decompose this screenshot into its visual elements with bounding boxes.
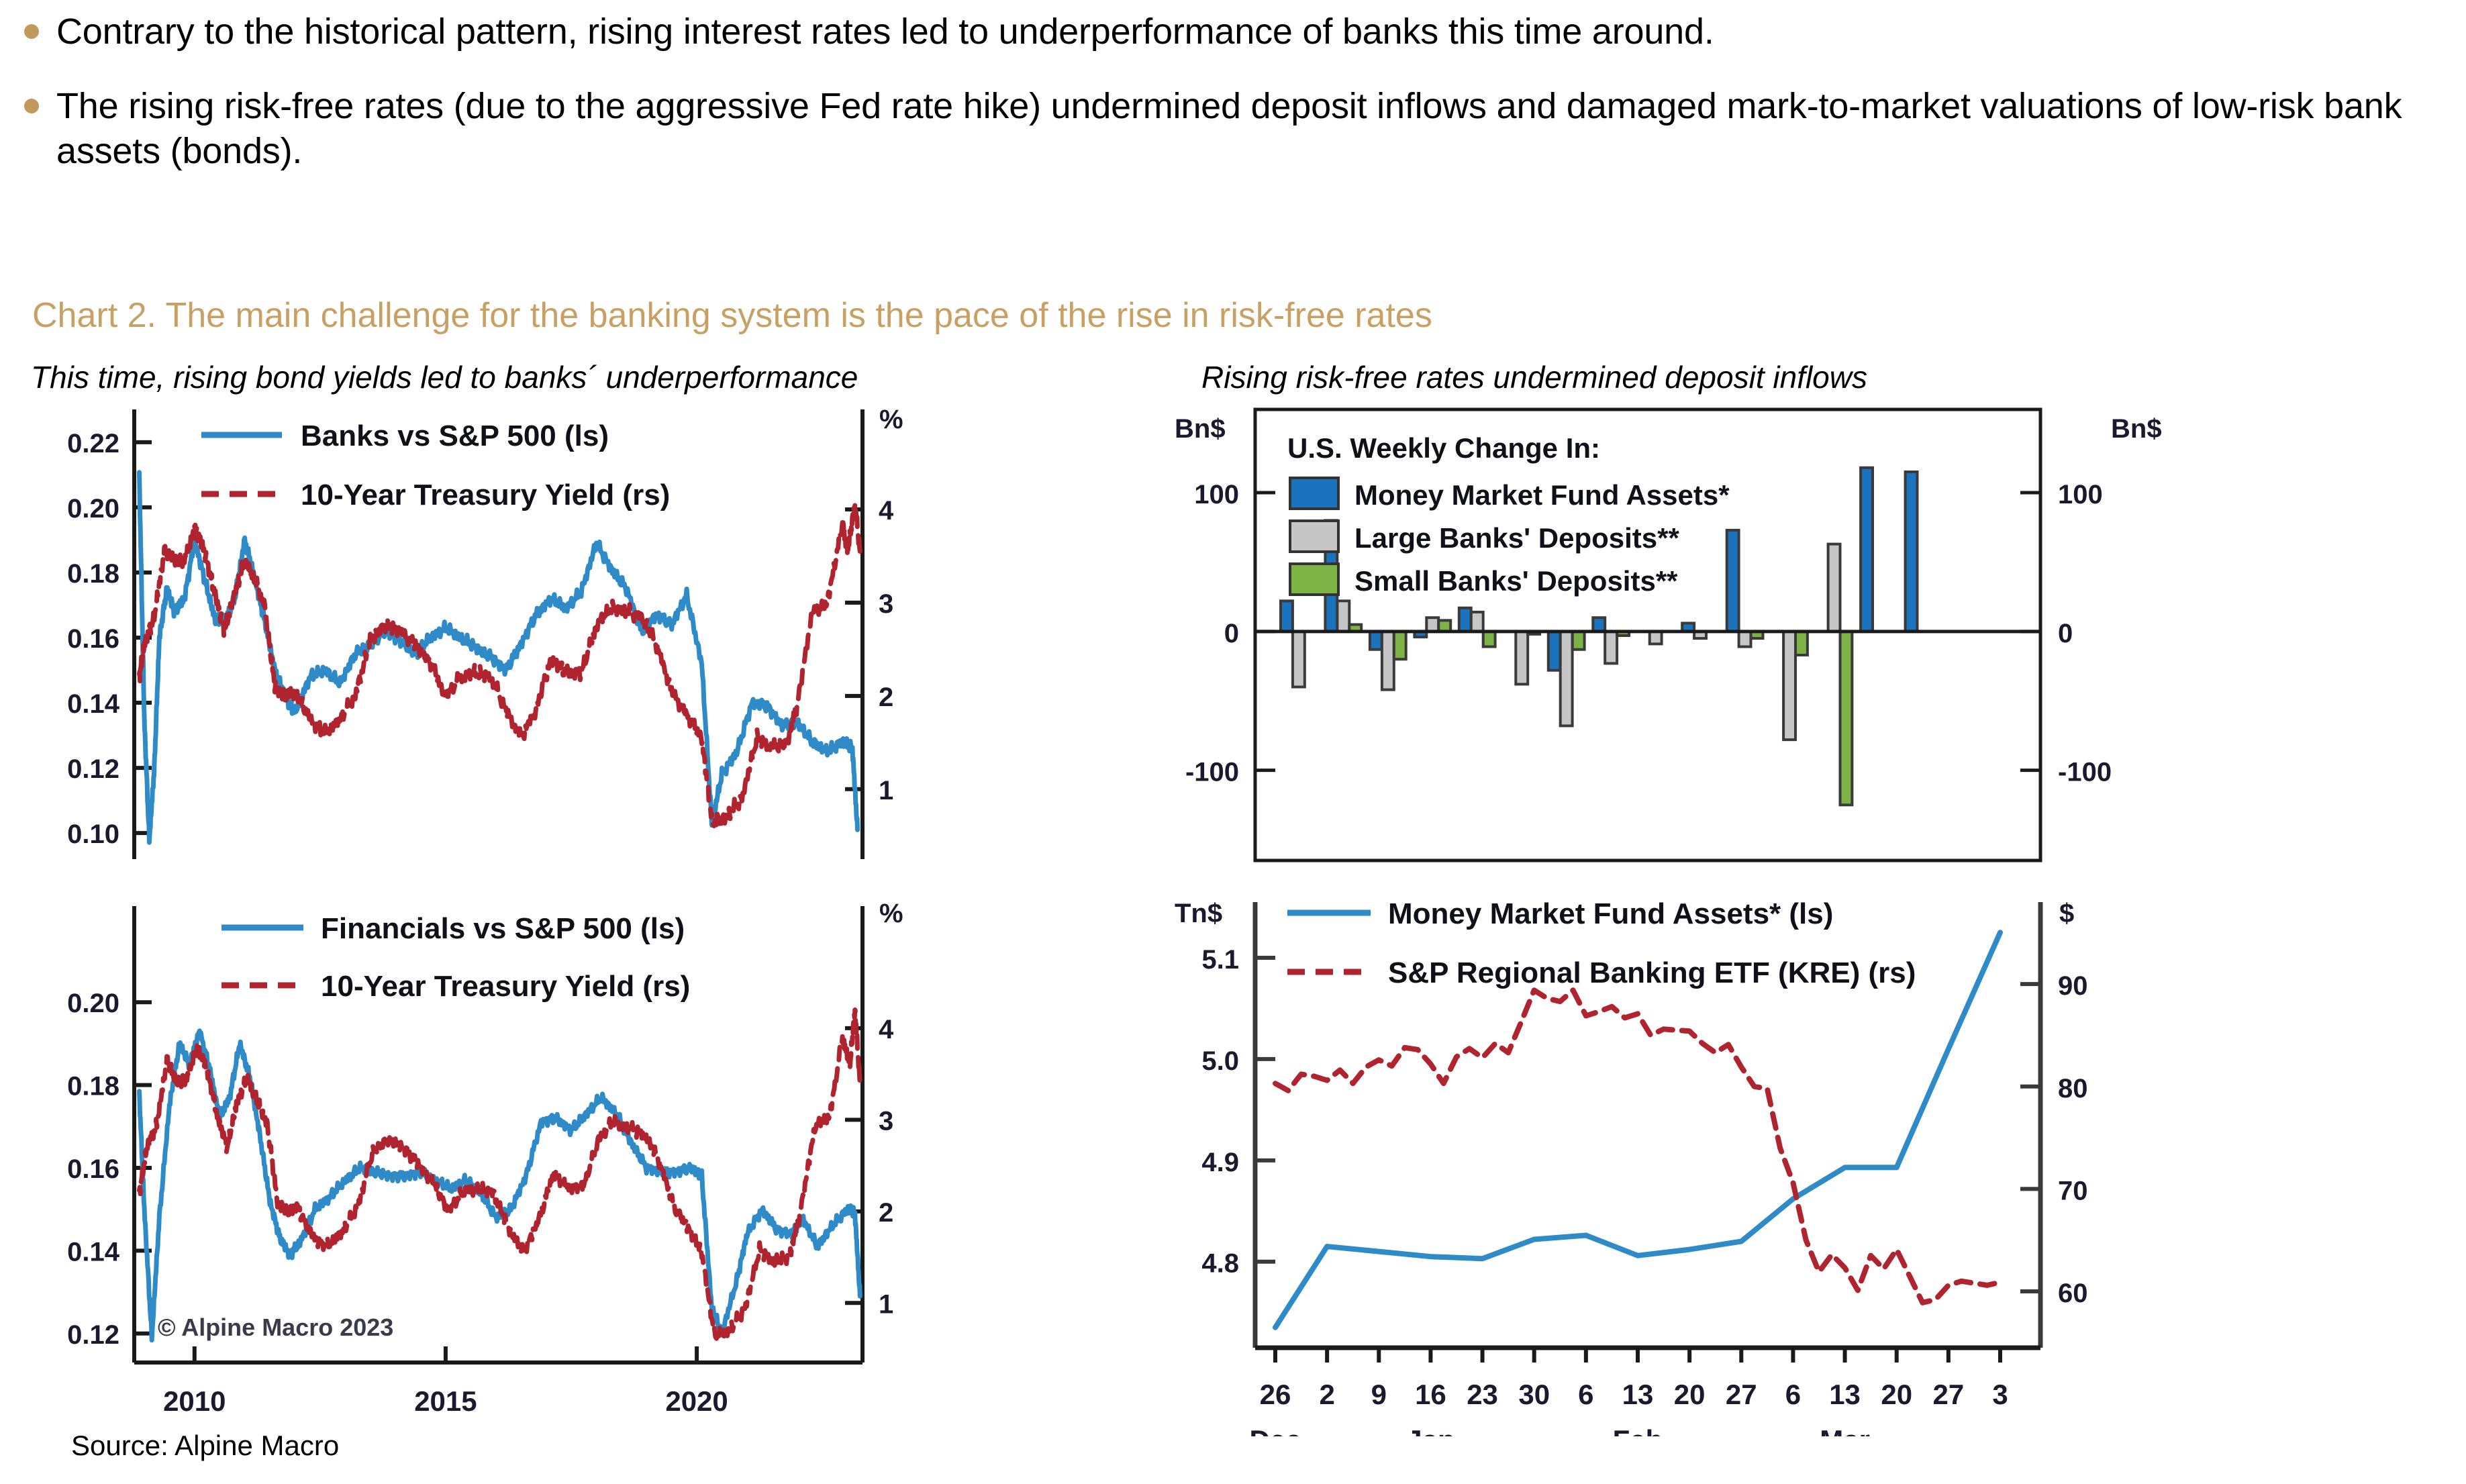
chart-legend: U.S. Weekly Change In: Money Market Fund… <box>1287 432 1730 597</box>
bar <box>1727 530 1739 632</box>
bar <box>1426 617 1438 632</box>
series-path-1 <box>140 1010 860 1339</box>
bar <box>1394 632 1406 659</box>
bar <box>1593 617 1605 632</box>
list-item: The rising risk-free rates (due to the a… <box>0 84 2457 174</box>
axis-ticks-right: 60708090 <box>2020 971 2088 1308</box>
svg-text:6: 6 <box>1578 1379 1593 1410</box>
svg-text:2: 2 <box>879 683 893 712</box>
svg-text:5.0: 5.0 <box>1201 1046 1239 1076</box>
legend-title: U.S. Weekly Change In: <box>1287 432 1600 464</box>
svg-text:26: 26 <box>1260 1379 1291 1410</box>
chart-financials-vs-sp500: 0.120.140.160.180.20 1234 201020152020 F… <box>0 893 940 1430</box>
svg-text:100: 100 <box>2058 480 2103 509</box>
svg-text:13: 13 <box>1829 1379 1861 1410</box>
bar <box>1548 632 1561 671</box>
bullet-text: The rising risk-free rates (due to the a… <box>56 84 2457 174</box>
legend-label: Small Banks' Deposits** <box>1354 565 1678 597</box>
axis-ticks-right: -1000100 <box>2020 480 2112 787</box>
svg-text:0: 0 <box>2058 619 2073 648</box>
svg-text:3: 3 <box>879 589 893 619</box>
svg-text:-100: -100 <box>1185 758 1239 787</box>
chart-us-weekly-change: -1000100 -1000100 Bn$ Bn$ U.S. Weekly Ch… <box>1175 396 2222 879</box>
bar <box>1605 632 1617 664</box>
svg-text:0.20: 0.20 <box>67 989 119 1018</box>
subtitle-right: Rising risk-free rates undermined deposi… <box>1201 359 1867 395</box>
bar <box>1861 468 1873 632</box>
bullet-dot-icon <box>24 99 39 113</box>
slide-page: Contrary to the historical pattern, risi… <box>0 0 2466 1484</box>
svg-text:0.12: 0.12 <box>67 754 119 784</box>
legend-label: Money Market Fund Assets* (ls) <box>1388 897 1833 930</box>
bar <box>1471 612 1483 632</box>
svg-text:4: 4 <box>879 496 894 526</box>
svg-text:Dec: Dec <box>1249 1424 1301 1436</box>
svg-text:0.18: 0.18 <box>67 559 119 589</box>
svg-text:5.1: 5.1 <box>1201 945 1239 975</box>
chart-legend: Banks vs S&P 500 (ls) 10-Year Treasury Y… <box>201 419 670 511</box>
bars-group <box>1281 468 1918 805</box>
bar <box>1828 544 1840 632</box>
legend-label: 10-Year Treasury Yield (rs) <box>301 479 670 511</box>
chart-legend: Money Market Fund Assets* (ls) S&P Regio… <box>1287 897 1916 989</box>
svg-text:0.14: 0.14 <box>67 1237 120 1267</box>
svg-text:0.20: 0.20 <box>67 494 119 524</box>
svg-text:4.8: 4.8 <box>1201 1249 1239 1279</box>
left-axis-unit: Tn$ <box>1175 899 1222 928</box>
svg-text:20: 20 <box>1674 1379 1706 1410</box>
svg-text:0.14: 0.14 <box>67 689 120 719</box>
svg-text:90: 90 <box>2058 971 2088 1001</box>
svg-text:1: 1 <box>879 776 893 805</box>
svg-text:2020: 2020 <box>665 1385 728 1417</box>
svg-text:23: 23 <box>1467 1379 1498 1410</box>
svg-text:2: 2 <box>879 1198 893 1228</box>
svg-text:2015: 2015 <box>414 1385 477 1417</box>
bar <box>1783 632 1795 740</box>
bullet-list: Contrary to the historical pattern, risi… <box>0 9 2457 203</box>
bar <box>1739 632 1751 647</box>
bar <box>1906 472 1918 632</box>
svg-text:60: 60 <box>2058 1279 2088 1308</box>
source-note: Source: Alpine Macro <box>71 1430 339 1462</box>
legend-label: Financials vs S&P 500 (ls) <box>321 912 685 945</box>
legend-label: Large Banks' Deposits** <box>1354 522 1679 554</box>
bar <box>1370 632 1382 650</box>
bar <box>1483 632 1495 647</box>
svg-text:0: 0 <box>1224 619 1239 648</box>
legend-swatch-large-banks <box>1290 521 1338 552</box>
svg-text:1: 1 <box>879 1289 893 1319</box>
svg-text:4.9: 4.9 <box>1201 1148 1239 1177</box>
right-axis-unit: $ <box>2059 899 2074 928</box>
series-path-0 <box>140 473 858 842</box>
svg-text:100: 100 <box>1194 480 1239 509</box>
legend-label: S&P Regional Banking ETF (KRE) (rs) <box>1388 956 1916 989</box>
chart-banks-vs-sp500: 0.100.120.140.160.180.200.22 1234 Banks … <box>0 396 940 879</box>
bar <box>1459 608 1471 632</box>
bar <box>1650 632 1662 644</box>
axis-ticks-x: 201020152020 <box>163 1346 728 1417</box>
svg-text:70: 70 <box>2058 1176 2088 1205</box>
left-axis-unit: Bn$ <box>1175 414 1226 444</box>
svg-text:2010: 2010 <box>163 1385 226 1417</box>
svg-text:9: 9 <box>1371 1379 1387 1410</box>
legend-label: 10-Year Treasury Yield (rs) <box>321 970 690 1003</box>
svg-text:16: 16 <box>1415 1379 1446 1410</box>
bullet-dot-icon <box>24 24 39 39</box>
axis-ticks-x: 26Dec2916Jan2330613Feb2027613Mar20273 <box>1249 1348 2008 1436</box>
svg-text:Feb: Feb <box>1613 1424 1663 1436</box>
right-axis-unit: % <box>879 405 903 434</box>
svg-text:30: 30 <box>1518 1379 1550 1410</box>
bar <box>1382 632 1394 690</box>
bar <box>1840 632 1853 805</box>
axis-ticks-left: 0.120.140.160.180.20 <box>67 989 152 1350</box>
svg-text:0.12: 0.12 <box>67 1320 119 1350</box>
svg-text:3: 3 <box>879 1106 893 1136</box>
series-group <box>140 1010 860 1340</box>
axis-ticks-left: 4.84.95.05.1 <box>1201 945 1275 1279</box>
svg-text:27: 27 <box>1726 1379 1757 1410</box>
svg-text:0.16: 0.16 <box>67 624 119 654</box>
right-axis-unit: % <box>879 899 903 928</box>
bar <box>1573 632 1585 650</box>
chart-legend: Financials vs S&P 500 (ls) 10-Year Treas… <box>221 912 690 1003</box>
series-group <box>1275 932 2000 1328</box>
bar <box>1795 632 1808 655</box>
chart-svg-financials: 0.120.140.160.180.20 1234 201020152020 F… <box>0 893 940 1430</box>
legend-swatch-small-banks <box>1290 564 1338 595</box>
page-title: Chart 2. The main challenge for the bank… <box>32 295 1432 336</box>
bar <box>1337 601 1349 632</box>
legend-label: Money Market Fund Assets* <box>1354 479 1730 511</box>
bar <box>1438 620 1450 632</box>
svg-text:0.10: 0.10 <box>67 820 119 849</box>
svg-text:3: 3 <box>1992 1379 2008 1410</box>
legend-label: Banks vs S&P 500 (ls) <box>301 419 609 452</box>
copyright-note: © Alpine Macro 2023 <box>158 1314 393 1341</box>
series-path-0 <box>1275 932 2000 1328</box>
svg-text:2: 2 <box>1319 1379 1334 1410</box>
bar <box>1516 632 1528 685</box>
right-axis-unit: Bn$ <box>2111 414 2162 444</box>
svg-text:0.22: 0.22 <box>67 429 119 458</box>
bullet-text: Contrary to the historical pattern, risi… <box>56 9 1714 54</box>
svg-text:20: 20 <box>1881 1379 1912 1410</box>
bar <box>1561 632 1573 726</box>
svg-text:27: 27 <box>1932 1379 1964 1410</box>
svg-text:-100: -100 <box>2058 758 2112 787</box>
svg-text:80: 80 <box>2058 1074 2088 1103</box>
chart-mmf-vs-kre: 4.84.95.05.1 60708090 26Dec2916Jan233061… <box>1175 893 2222 1436</box>
series-group <box>140 473 860 842</box>
subtitle-left: This time, rising bond yields led to ban… <box>31 359 858 395</box>
svg-text:0.16: 0.16 <box>67 1154 119 1184</box>
svg-text:13: 13 <box>1622 1379 1654 1410</box>
svg-text:6: 6 <box>1785 1379 1801 1410</box>
svg-text:Jan: Jan <box>1406 1424 1454 1436</box>
chart-svg-banks: 0.100.120.140.160.180.200.22 1234 Banks … <box>0 396 940 879</box>
legend-swatch-mmf <box>1290 478 1338 509</box>
chart-svg-mmf: 4.84.95.05.1 60708090 26Dec2916Jan233061… <box>1175 893 2222 1436</box>
svg-text:4: 4 <box>879 1015 894 1044</box>
bar <box>1281 601 1293 632</box>
list-item: Contrary to the historical pattern, risi… <box>0 9 2457 54</box>
axis-ticks-left: -1000100 <box>1185 480 1275 787</box>
chart-svg-bars: -1000100 -1000100 Bn$ Bn$ U.S. Weekly Ch… <box>1175 396 2222 879</box>
svg-text:0.18: 0.18 <box>67 1072 119 1101</box>
svg-text:Mar: Mar <box>1820 1424 1870 1436</box>
bar <box>1293 632 1305 687</box>
